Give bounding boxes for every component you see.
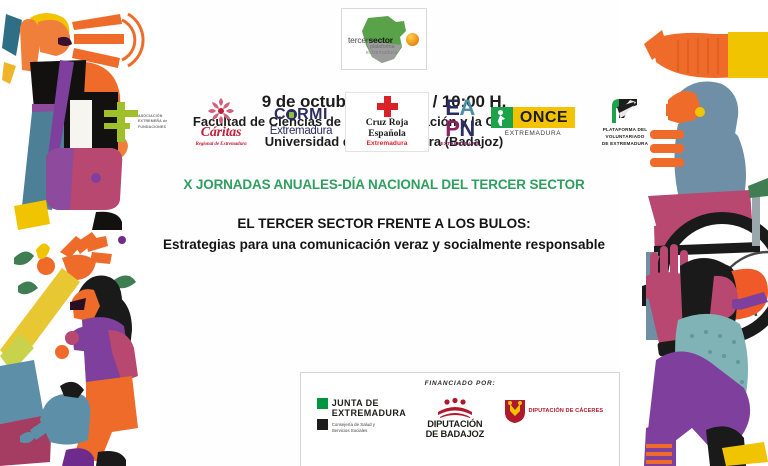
junta-line2: EXTREMADURA [332, 408, 406, 418]
caritas-name: Cáritas [185, 126, 257, 140]
logo-asociacion-extremena-fundaciones: ASOCIACIÓN EXTREMEÑA de FUNDACIONES [102, 102, 176, 142]
tercer-sector-sub2: extremadura [366, 50, 397, 56]
eapn-row-2: PN [438, 119, 482, 139]
caceres-label: DIPUTACIÓN DE CÁCERES [529, 408, 604, 414]
cermi-wordmark: CRMI [266, 107, 336, 123]
logo-eapn: EA PN EXTREMADURA [438, 98, 482, 145]
logo-caritas: Cáritas Regional de Extremadura [185, 97, 257, 147]
cruz-roja-name: Cruz Roja Española [348, 118, 426, 139]
junta-line1: JUNTA DE [332, 398, 406, 408]
caceres-shield-icon [504, 398, 526, 424]
logo-diputacion-de-badajoz: DIPUTACIÓN DE BADAJOZ [426, 398, 484, 440]
cruz-roja-sub: Extremadura [348, 140, 426, 147]
cermi-glyph-icon [286, 109, 297, 120]
funding-heading: FINANCIADO POR: [307, 380, 613, 387]
poster-content: tercersector plataforma extremadura ASOC… [150, 0, 618, 466]
logo-plataforma-voluntariado: PLATAFORMA DEL VOLUNTARIADO DE EXTREMADU… [584, 96, 666, 148]
event-subtitle: Estrategias para una comunicación veraz … [150, 235, 618, 256]
junta-dept: Consejería de Salud y Servicios Sociales [332, 422, 406, 435]
left-illustration-panel [0, 0, 160, 466]
caritas-cross-icon [185, 97, 257, 125]
event-series-title: X JORNADAS ANUALES-DÍA NACIONAL DEL TERC… [150, 177, 618, 192]
voluntariado-mark-icon [610, 96, 640, 126]
caritas-sub: Regional de Extremadura [185, 142, 257, 147]
once-wordmark: ONCE [513, 107, 575, 128]
eapn-sub: EXTREMADURA [438, 141, 482, 146]
logo-once: ONCE EXTREMADURA [491, 107, 575, 137]
f-monogram-icon [104, 102, 138, 142]
logo-diputacion-de-caceres: DIPUTACIÓN DE CÁCERES [504, 398, 604, 424]
tercer-sector-dot-icon [406, 33, 419, 46]
badajoz-arcs-icon [435, 398, 475, 418]
voluntariado-text: PLATAFORMA DEL VOLUNTARIADO DE EXTREMADU… [584, 127, 666, 148]
event-poster: tercersector plataforma extremadura ASOC… [0, 0, 768, 466]
logo-cruz-roja-espanola: Cruz Roja Española Extremadura [345, 92, 429, 152]
right-illustration-art [618, 0, 768, 466]
logo-cermi: CRMI Extremadura [266, 107, 336, 137]
once-sub: EXTREMADURA [491, 130, 575, 137]
tercer-sector-logo: tercersector plataforma extremadura [341, 8, 427, 70]
once-person-icon [491, 107, 513, 128]
cermi-region: Extremadura [266, 125, 336, 137]
funding-entities-row: JUNTA DE EXTREMADURA Consejería de Salud… [307, 398, 613, 440]
junta-squares-icon [317, 398, 328, 435]
funding-box: FINANCIADO POR: JUNTA DE EXTREMADURA Con… [300, 372, 620, 466]
left-illustration-art [0, 0, 160, 466]
fundaciones-logo-text: ASOCIACIÓN EXTREMEÑA de FUNDACIONES [138, 114, 174, 130]
red-cross-icon [377, 96, 398, 117]
badajoz-line2: DE BADAJOZ [426, 430, 484, 440]
logo-junta-de-extremadura: JUNTA DE EXTREMADURA Consejería de Salud… [317, 398, 406, 435]
event-main-title: EL TERCER SECTOR FRENTE A LOS BULOS: [150, 214, 618, 235]
sponsor-logo-strip: ASOCIACIÓN EXTREMEÑA de FUNDACIONES [150, 88, 618, 156]
once-band: ONCE [491, 107, 575, 128]
right-illustration-panel [618, 0, 768, 466]
